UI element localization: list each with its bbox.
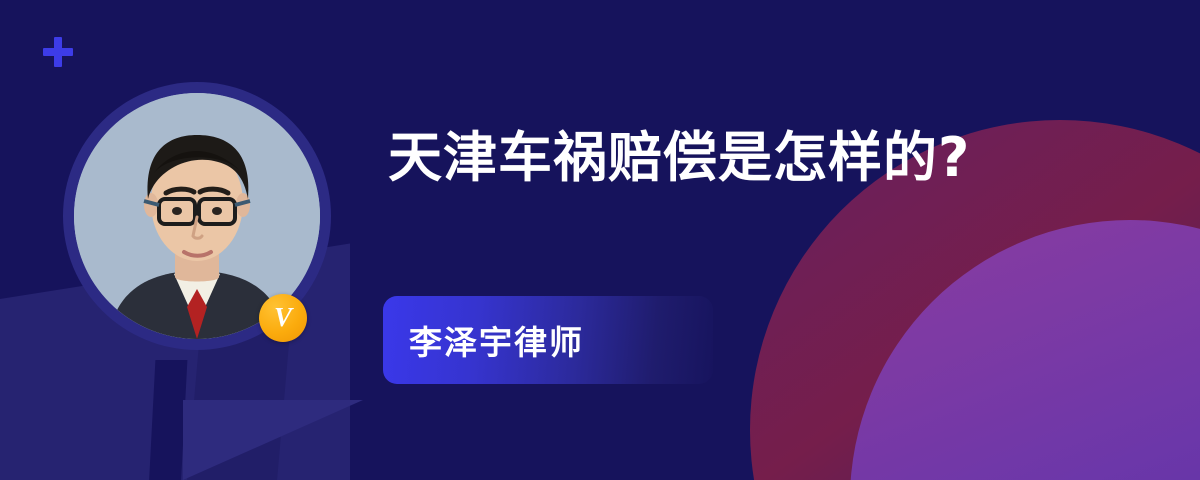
lawyer-promo-banner: V 天津车祸赔偿是怎样的? 李泽宇律师 <box>0 0 1200 480</box>
decorative-notch-shape <box>149 360 188 480</box>
page-title: 天津车祸赔偿是怎样的? <box>388 128 970 187</box>
plus-icon <box>43 37 73 67</box>
avatar: V <box>63 82 331 350</box>
banner-content: 天津车祸赔偿是怎样的? 李泽宇律师 <box>388 0 1088 480</box>
decorative-triangle-shape <box>183 400 363 480</box>
verified-badge-glyph: V <box>274 304 292 331</box>
lawyer-name-button[interactable]: 李泽宇律师 <box>383 296 713 384</box>
verified-badge-icon: V <box>259 294 307 342</box>
